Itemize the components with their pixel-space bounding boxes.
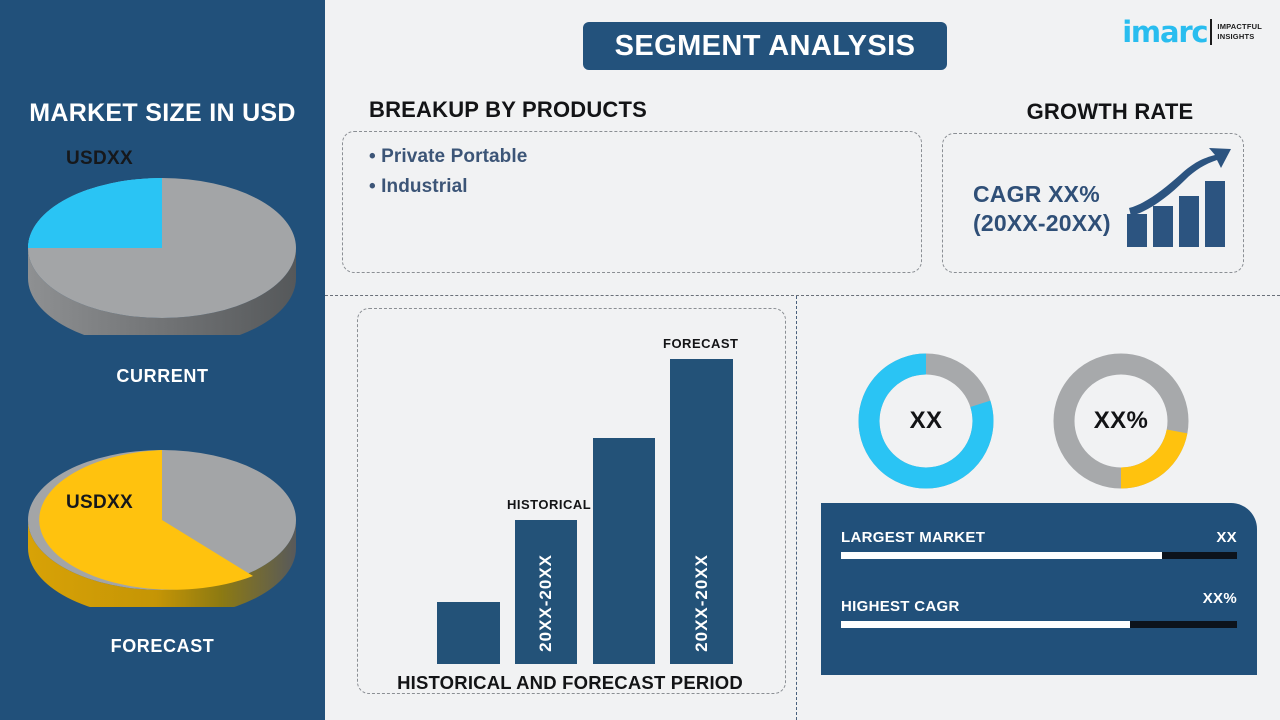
- market-size-title: MARKET SIZE IN USD: [0, 99, 325, 128]
- forecast-pie-group: USDXX FORECAST: [0, 432, 325, 657]
- largest-market-donut-value-wrap: XX: [891, 386, 961, 456]
- bar-4-label: 20XX-20XX: [692, 554, 712, 652]
- growth-box: CAGR XX% (20XX-20XX): [942, 133, 1244, 273]
- largest-market-progress-track: [841, 552, 1237, 559]
- highest-cagr-progress-fill: [841, 621, 1130, 628]
- largest-market-progress-fill: [841, 552, 1162, 559]
- highest-cagr-donut-value: XX%: [1094, 407, 1149, 435]
- current-pie-label: USDXX: [66, 148, 133, 170]
- cagr-line2: (20XX-20XX): [973, 209, 1111, 238]
- vertical-divider: [796, 296, 797, 720]
- growth-arrow-bars-icon: [1123, 146, 1233, 252]
- bar-3: [593, 438, 655, 664]
- bar-1: [437, 602, 500, 664]
- cagr-text: CAGR XX% (20XX-20XX): [973, 180, 1111, 239]
- logo-tagline-line1: IMPACTFUL: [1217, 22, 1262, 32]
- logo-divider: [1210, 19, 1212, 45]
- forecast-pie-label: USDXX: [66, 492, 133, 514]
- stats-panel: LARGEST MARKET XX HIGHEST CAGR XX%: [821, 503, 1257, 675]
- infographic-root: MARKET SIZE IN USD USDXX CURRENT: [0, 0, 1280, 720]
- list-item: Industrial: [369, 176, 527, 198]
- main-area: SEGMENT ANALYSIS imarc IMPACTFUL INSIGHT…: [325, 0, 1280, 720]
- bar-chart-caption: HISTORICAL AND FORECAST PERIOD: [360, 672, 780, 694]
- breakup-heading: BREAKUP BY PRODUCTS: [369, 97, 647, 123]
- bar-2-label: 20XX-20XX: [536, 554, 556, 652]
- bar-chart: 20XX-20XX HISTORICAL 20XX-20XX FORECAST …: [360, 312, 780, 690]
- highest-cagr-donut-value-wrap: XX%: [1086, 386, 1156, 456]
- breakup-box: Private Portable Industrial: [342, 131, 922, 273]
- forecast-pie-caption: FORECAST: [0, 636, 325, 657]
- horizontal-divider: [325, 295, 1280, 296]
- bar-4: 20XX-20XX: [670, 359, 733, 664]
- highest-cagr-label: HIGHEST CAGR: [841, 598, 960, 615]
- imarc-logo: imarc IMPACTFUL INSIGHTS: [1122, 14, 1262, 50]
- current-pie-caption: CURRENT: [0, 366, 325, 387]
- list-item: Private Portable: [369, 146, 527, 168]
- current-pie-chart: [0, 160, 325, 335]
- current-pie-group: USDXX CURRENT: [0, 160, 325, 387]
- bar-2: 20XX-20XX: [515, 520, 577, 664]
- highest-cagr-value: XX%: [1203, 590, 1237, 607]
- logo-tagline-line2: INSIGHTS: [1217, 32, 1262, 42]
- largest-market-label: LARGEST MARKET: [841, 529, 985, 546]
- breakup-list: Private Portable Industrial: [369, 146, 527, 206]
- cagr-line1: CAGR XX%: [973, 180, 1111, 209]
- forecast-pie-chart: [0, 432, 325, 607]
- market-size-panel: MARKET SIZE IN USD USDXX CURRENT: [0, 0, 325, 720]
- largest-market-donut-value: XX: [910, 407, 943, 435]
- growth-heading: GROWTH RATE: [940, 99, 1280, 125]
- highest-cagr-progress-track: [841, 621, 1237, 628]
- historical-annotation: HISTORICAL: [507, 497, 591, 512]
- page-title: SEGMENT ANALYSIS: [583, 22, 947, 70]
- forecast-annotation: FORECAST: [663, 336, 739, 351]
- logo-tagline: IMPACTFUL INSIGHTS: [1217, 22, 1262, 42]
- largest-market-value: XX: [1216, 529, 1237, 546]
- page-title-text: SEGMENT ANALYSIS: [615, 30, 916, 63]
- logo-wordmark: imarc: [1122, 18, 1207, 47]
